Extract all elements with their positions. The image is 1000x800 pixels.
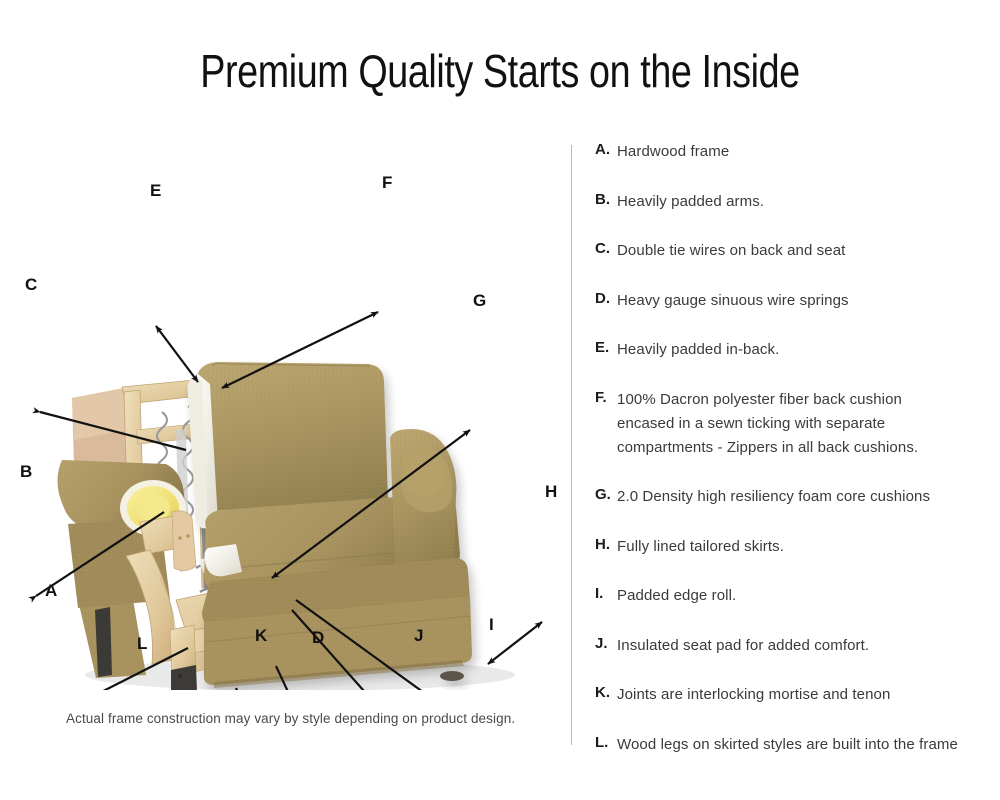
front-wood-leg bbox=[170, 625, 198, 690]
legend-letter-i: I. bbox=[595, 584, 617, 603]
legend-letter-c: C. bbox=[595, 239, 617, 258]
legend-item-i: I. Padded edge roll. bbox=[595, 584, 990, 608]
legend-letter-f: F. bbox=[595, 388, 617, 407]
legend-item-d: D. Heavy gauge sinuous wire springs bbox=[595, 289, 990, 313]
legend-text-f: 100% Dacron polyester fiber back cushion… bbox=[617, 388, 918, 460]
illustration-caption: Actual frame construction may vary by st… bbox=[66, 711, 536, 726]
legend-letter-a: A. bbox=[595, 140, 617, 159]
callout-label-J: J bbox=[414, 627, 423, 644]
upholstered-chair-body bbox=[188, 362, 473, 688]
legend-item-l: L. Wood legs on skirted styles are built… bbox=[595, 733, 990, 757]
chair-cutaway-illustration: E F C G B H A L K D J I bbox=[0, 130, 571, 690]
legend-text-k: Joints are interlocking mortise and teno… bbox=[617, 683, 890, 707]
legend-text-l: Wood legs on skirted styles are built in… bbox=[617, 733, 958, 757]
callout-label-H: H bbox=[545, 483, 557, 500]
legend-text-j: Insulated seat pad for added comfort. bbox=[617, 634, 869, 658]
legend-text-i: Padded edge roll. bbox=[617, 584, 736, 608]
legend-item-h: H. Fully lined tailored skirts. bbox=[595, 535, 990, 559]
legend-text-h: Fully lined tailored skirts. bbox=[617, 535, 784, 559]
legend-text-c: Double tie wires on back and seat bbox=[617, 239, 845, 263]
legend-letter-b: B. bbox=[595, 190, 617, 209]
callout-label-K: K bbox=[255, 627, 267, 644]
legend-letter-d: D. bbox=[595, 289, 617, 308]
arrow-H bbox=[488, 622, 542, 664]
legend-text-f-line-3: compartments - Zippers in all back cushi… bbox=[617, 436, 918, 460]
arrow-E bbox=[156, 326, 198, 382]
legend-text-d: Heavy gauge sinuous wire springs bbox=[617, 289, 849, 313]
legend-text-f-line-2: encased in a sewn ticking with separate bbox=[617, 412, 918, 436]
legend-letter-e: E. bbox=[595, 338, 617, 357]
legend-letter-j: J. bbox=[595, 634, 617, 653]
legend-letter-g: G. bbox=[595, 485, 617, 504]
callout-label-D: D bbox=[312, 629, 324, 646]
legend-item-b: B. Heavily padded arms. bbox=[595, 190, 990, 214]
callout-label-L: L bbox=[137, 635, 147, 652]
legend-text-e: Heavily padded in-back. bbox=[617, 338, 779, 362]
legend-item-j: J. Insulated seat pad for added comfort. bbox=[595, 634, 990, 658]
legend-text-f-line-1: 100% Dacron polyester fiber back cushion bbox=[617, 388, 918, 412]
feature-legend-list: A. Hardwood frame B. Heavily padded arms… bbox=[595, 140, 990, 782]
callout-label-I: I bbox=[489, 616, 494, 633]
legend-text-g: 2.0 Density high resiliency foam core cu… bbox=[617, 485, 930, 509]
callout-label-C: C bbox=[25, 276, 37, 293]
vertical-divider bbox=[571, 145, 572, 745]
legend-item-a: A. Hardwood frame bbox=[595, 140, 990, 164]
legend-letter-k: K. bbox=[595, 683, 617, 702]
legend-text-b: Heavily padded arms. bbox=[617, 190, 764, 214]
legend-item-k: K. Joints are interlocking mortise and t… bbox=[595, 683, 990, 707]
callout-label-G: G bbox=[473, 292, 486, 309]
legend-item-e: E. Heavily padded in-back. bbox=[595, 338, 990, 362]
legend-item-f: F. 100% Dacron polyester fiber back cush… bbox=[595, 388, 990, 460]
page-title: Premium Quality Starts on the Inside bbox=[90, 44, 910, 98]
legend-letter-l: L. bbox=[595, 733, 617, 752]
callout-label-F: F bbox=[382, 174, 392, 191]
legend-item-g: G. 2.0 Density high resiliency foam core… bbox=[595, 485, 990, 509]
legend-text-a: Hardwood frame bbox=[617, 140, 729, 164]
callout-label-E: E bbox=[150, 182, 161, 199]
callout-label-B: B bbox=[20, 463, 32, 480]
legend-item-c: C. Double tie wires on back and seat bbox=[595, 239, 990, 263]
legend-letter-h: H. bbox=[595, 535, 617, 554]
callout-label-A: A bbox=[45, 582, 57, 599]
